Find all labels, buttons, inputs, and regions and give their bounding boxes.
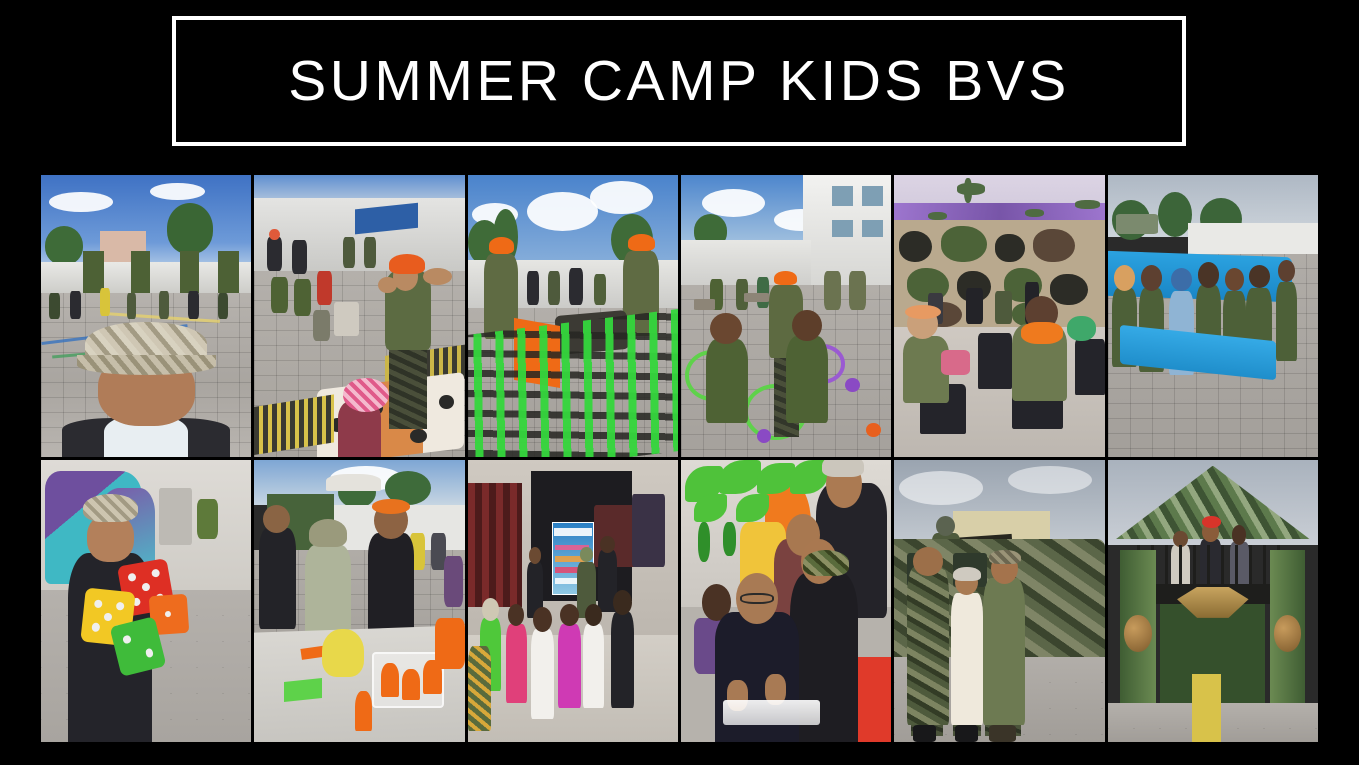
photo-rope-net-obstacle: Staff in orange caps and olive shirts se… (468, 175, 678, 457)
photo-scene (468, 175, 678, 457)
photo-scene (41, 175, 251, 457)
photo-blue-tarp-teamwork: Line of children lifting a large blue ta… (1108, 175, 1318, 457)
photo-scene (681, 460, 891, 742)
photo-scene (1108, 175, 1318, 457)
presentation-slide: SUMMER CAMP KIDS BVS (0, 0, 1359, 765)
photo-scene (894, 460, 1104, 742)
title-frame: SUMMER CAMP KIDS BVS (172, 16, 1186, 146)
page-title: SUMMER CAMP KIDS BVS (288, 53, 1070, 110)
photo-hula-hoop-games: Monitor in an orange cap with two girls … (681, 175, 891, 457)
photo-grid: Smiling man in camouflage cap taking a s… (41, 175, 1318, 742)
photo-scene (894, 175, 1104, 457)
photo-mission-ad-poster-room: Indoor room where children gather in fro… (468, 460, 678, 742)
photo-floor-game-activity: Girl in pink bucket hat playing a floor … (254, 175, 464, 457)
photo-scene (254, 175, 464, 457)
photo-group-selfie-thumbs-up: Group selfie of smiling teens and leader… (681, 460, 891, 742)
photo-scene (1108, 460, 1318, 742)
photo-scene (254, 460, 464, 742)
photo-humvee-soldier-photo: Boy and man posing with an armed soldier… (894, 460, 1104, 742)
photo-scene (468, 460, 678, 742)
photo-boy-with-giant-dice: Boy in a camo cap grinning while holding… (41, 460, 251, 742)
photo-craft-table-station: Campers and staff working at an outdoor … (254, 460, 464, 742)
photo-scene (41, 460, 251, 742)
photo-camp-selfie-man: Smiling man in camouflage cap taking a s… (41, 175, 251, 457)
photo-scene (681, 175, 891, 457)
photo-camo-room-briefing: Indoor hall with camouflage painted wall… (894, 175, 1104, 457)
photo-military-gate-structure: Green military style gate structure with… (1108, 460, 1318, 742)
